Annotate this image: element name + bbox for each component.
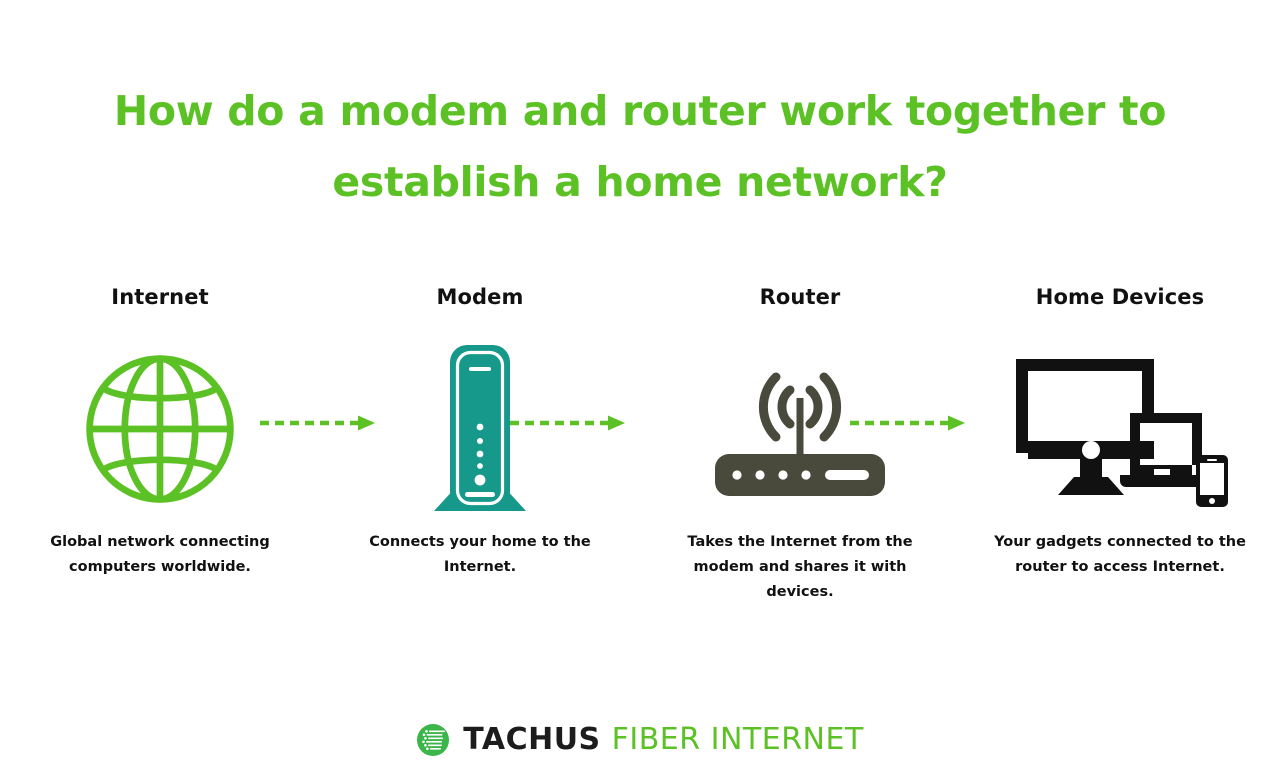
caption-line-1: Global network connecting [26,530,294,555]
arrow-modem-to-router [508,412,628,434]
caption-line-1: Takes the Internet from the [666,530,934,555]
footer-logo-text: TACHUS FIBER INTERNET [463,723,864,757]
flow-step-home-devices-caption: Your gadgets connected to the router to … [986,530,1254,580]
caption-line-2: modem and shares it with devices. [666,555,934,605]
flow-step-router-heading: Router [760,282,841,312]
page-title-line-2: establish a home network? [0,147,1280,218]
caption-line-1: Your gadgets connected to the [986,530,1254,555]
flow-step-home-devices-heading: Home Devices [1036,282,1204,312]
flow-step-home-devices: Home Devices [960,282,1280,580]
page-title-line-1: How do a modem and router work together … [0,76,1280,147]
tachus-globe-logo-icon [416,723,450,757]
flow-step-internet-caption: Global network connecting computers worl… [26,530,294,580]
arrow-internet-to-modem [258,412,378,434]
flow-step-router-caption: Takes the Internet from the modem and sh… [666,530,934,605]
caption-line-2: router to access Internet. [986,555,1254,580]
caption-line-2: computers worldwide. [26,555,294,580]
flow-diagram: Internet Global network connecting compu… [0,282,1280,605]
footer-logo: TACHUS FIBER INTERNET [0,723,1280,757]
caption-line-1: Connects your home to the [346,530,614,555]
flow-step-home-devices-icon-area [980,334,1260,524]
flow-step-modem-heading: Modem [437,282,524,312]
footer-tagline: FIBER INTERNET [612,722,864,757]
flow-step-router: Router [640,282,960,605]
caption-line-2: Internet. [346,555,614,580]
home-devices-icon [1008,347,1233,512]
globe-icon [80,349,240,509]
footer-brand-name: TACHUS [463,722,600,757]
arrow-router-to-devices [848,412,968,434]
flow-step-internet-heading: Internet [111,282,208,312]
smartphone-icon [1196,455,1228,507]
flow-step-modem-caption: Connects your home to the Internet. [346,530,614,580]
page-title: How do a modem and router work together … [0,76,1280,218]
